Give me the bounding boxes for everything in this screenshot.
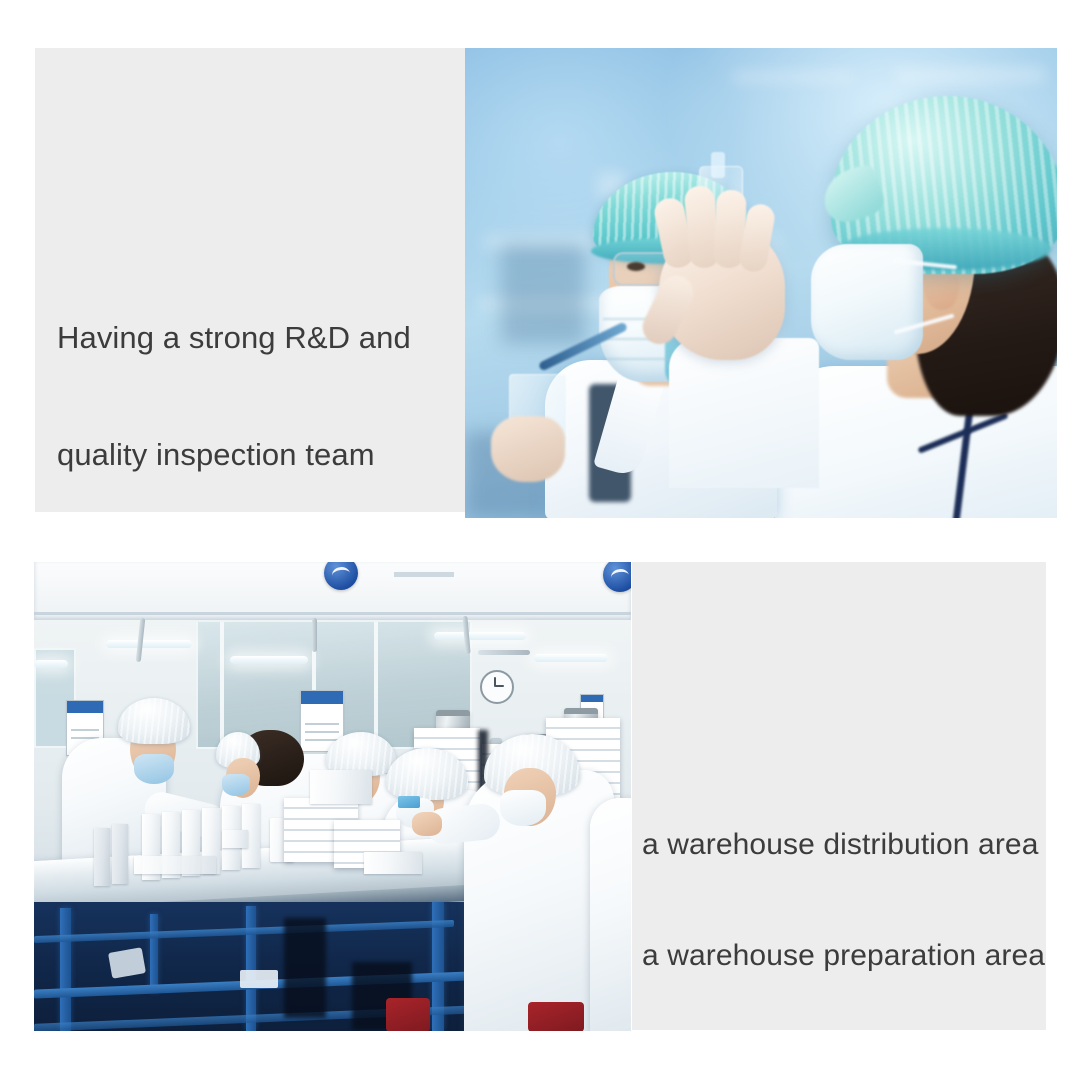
vial-neck <box>711 152 725 178</box>
carton <box>222 830 248 848</box>
ceiling-edge <box>34 612 631 615</box>
ceiling-beam <box>394 572 454 577</box>
notice-line <box>305 723 339 725</box>
worker-mask <box>500 790 546 826</box>
lab-inspection-photo <box>465 48 1057 518</box>
ceiling-light <box>434 632 526 640</box>
notice-header <box>301 691 343 704</box>
carton <box>112 824 128 884</box>
carton-flat <box>134 856 216 874</box>
warehouse-packing-photo <box>34 562 631 1031</box>
wall-clock <box>480 670 514 704</box>
carton <box>310 770 372 804</box>
ceiling-pipe <box>478 650 530 655</box>
notice-line <box>305 739 339 741</box>
ceiling-light <box>34 660 68 668</box>
worker-mask <box>222 774 250 796</box>
worker-hand <box>412 812 442 836</box>
window-mullion <box>220 622 224 744</box>
beaker-and-stir-rod <box>485 324 615 484</box>
top-caption: Having a strong R&D and quality inspecti… <box>57 240 411 513</box>
table-leg <box>60 908 71 1031</box>
blue-label <box>398 796 420 808</box>
red-floor-mark <box>528 1002 584 1031</box>
ceiling-light <box>106 640 192 648</box>
under-shelf-item <box>284 918 326 1018</box>
worker-coat <box>590 798 631 1031</box>
coat-sleeve <box>669 338 819 488</box>
window-mullion <box>374 622 378 744</box>
top-caption-line-2: quality inspection team <box>57 435 411 474</box>
table-leg <box>150 914 158 992</box>
ceiling-hose <box>312 618 317 652</box>
bottom-caption-line-2: a warehouse preparation area <box>642 937 1045 974</box>
ceiling-light <box>230 656 308 664</box>
under-table-paper <box>240 970 278 988</box>
notice-header <box>67 701 103 713</box>
notice-line <box>305 731 339 733</box>
carton <box>364 852 422 874</box>
hand-holding-vial <box>615 152 825 482</box>
worker-mask <box>134 754 174 784</box>
hand <box>491 416 565 482</box>
bottom-caption: a warehouse distribution area a warehous… <box>642 752 1045 1011</box>
carton <box>94 828 110 886</box>
bottom-caption-line-1: a warehouse distribution area <box>642 826 1045 863</box>
notice-header <box>581 695 603 702</box>
stir-rod <box>538 321 628 371</box>
table-leg <box>246 906 256 1031</box>
ceiling-light <box>534 654 608 662</box>
top-caption-line-1: Having a strong R&D and <box>57 318 411 357</box>
red-floor-mark <box>386 998 430 1031</box>
notice-line <box>71 729 100 731</box>
